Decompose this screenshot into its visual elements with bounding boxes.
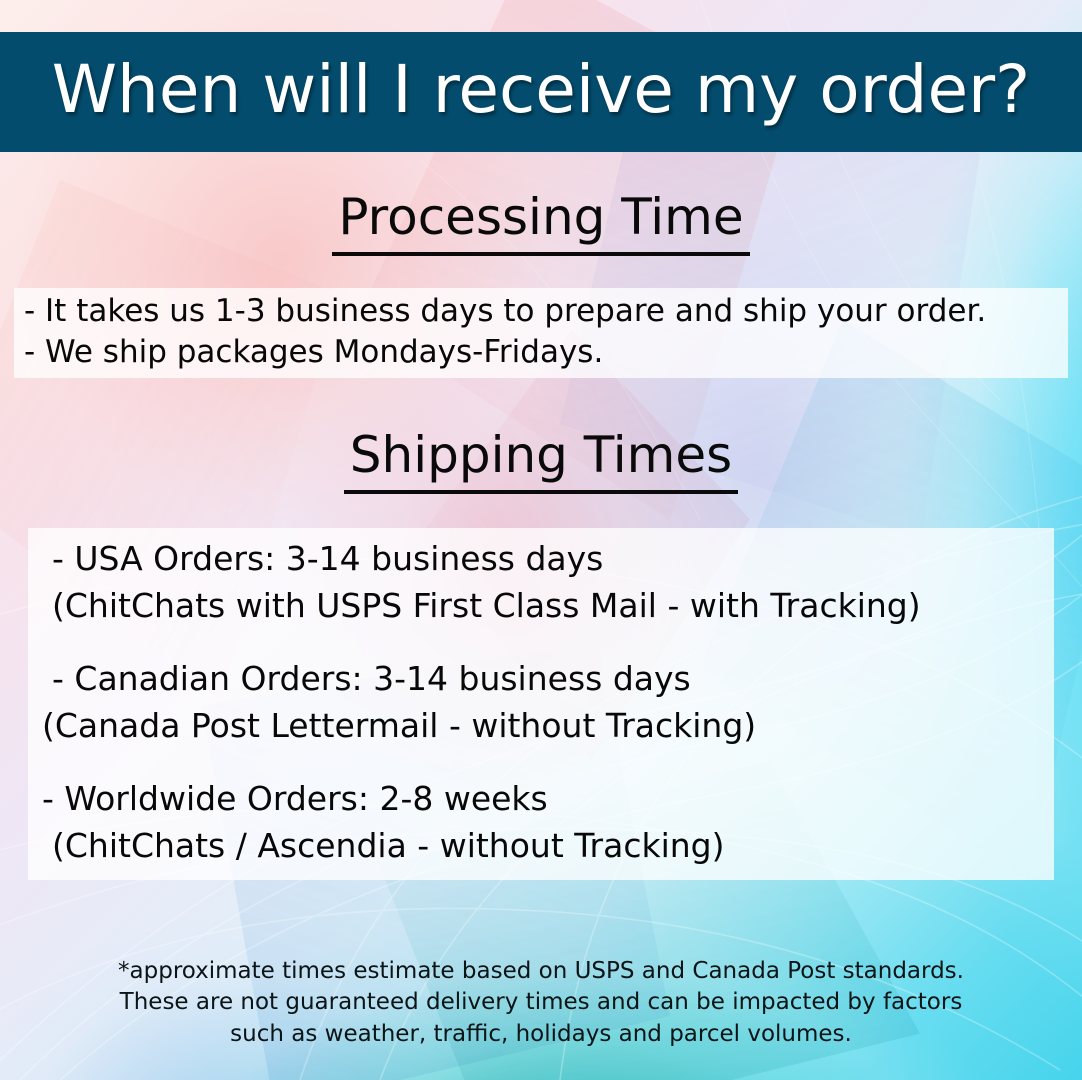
shipping-usa-detail: (ChitChats with USPS First Class Mail - …: [42, 587, 1040, 626]
shipping-group-usa: - USA Orders: 3-14 business days (ChitCh…: [42, 540, 1040, 626]
section-heading-processing-text: Processing Time: [332, 188, 749, 256]
footnote-line-2: These are not guaranteed delivery times …: [0, 987, 1082, 1018]
shipping-worldwide-detail: (ChitChats / Ascendia - without Tracking…: [42, 827, 1040, 866]
footnote-line-1: *approximate times estimate based on USP…: [0, 956, 1082, 987]
shipping-group-worldwide: - Worldwide Orders: 2-8 weeks (ChitChats…: [42, 780, 1040, 866]
processing-line-1: - It takes us 1-3 business days to prepa…: [24, 293, 1058, 330]
footnote: *approximate times estimate based on USP…: [0, 956, 1082, 1050]
section-heading-shipping-text: Shipping Times: [344, 426, 738, 494]
shipping-worldwide-main: - Worldwide Orders: 2-8 weeks: [42, 780, 1040, 819]
footnote-line-3: such as weather, traffic, holidays and p…: [0, 1019, 1082, 1050]
content-area: Processing Time - It takes us 1-3 busine…: [0, 0, 1082, 1080]
shipping-times-panel: - USA Orders: 3-14 business days (ChitCh…: [28, 528, 1054, 880]
shipping-canada-main: - Canadian Orders: 3-14 business days: [42, 660, 1040, 699]
processing-time-panel: - It takes us 1-3 business days to prepa…: [14, 288, 1068, 378]
shipping-usa-main: - USA Orders: 3-14 business days: [42, 540, 1040, 579]
section-heading-processing: Processing Time: [0, 192, 1082, 242]
shipping-group-canada: - Canadian Orders: 3-14 business days (C…: [42, 660, 1040, 746]
infographic-canvas: When will I receive my order? Processing…: [0, 0, 1082, 1080]
section-heading-shipping: Shipping Times: [0, 430, 1082, 480]
processing-line-2: - We ship packages Mondays-Fridays.: [24, 334, 1058, 371]
shipping-canada-detail: (Canada Post Lettermail - without Tracki…: [42, 707, 1040, 746]
